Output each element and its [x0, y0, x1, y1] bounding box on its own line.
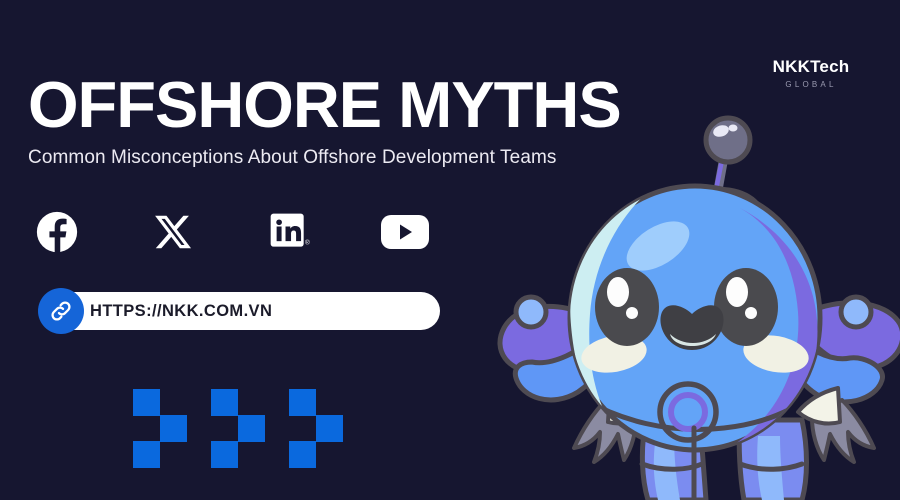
chevron-square — [133, 389, 160, 416]
brand-logo: NKKTech GLOBAL — [746, 58, 876, 89]
brand-tagline: GLOBAL — [746, 81, 876, 89]
chevron-square — [160, 415, 187, 442]
chevron-motif — [211, 389, 265, 467]
chevron-square — [238, 415, 265, 442]
link-chain-icon — [38, 288, 84, 334]
chevron-square — [289, 441, 316, 468]
facebook-icon — [34, 209, 80, 255]
social-link-youtube[interactable] — [381, 208, 429, 256]
social-links: ® — [33, 208, 429, 256]
chevron-square — [133, 441, 160, 468]
social-link-x[interactable] — [149, 208, 197, 256]
x-twitter-icon — [153, 212, 193, 252]
chevron-decoration — [133, 389, 343, 467]
linkedin-icon: ® — [267, 210, 311, 254]
social-link-linkedin[interactable]: ® — [265, 208, 313, 256]
poster-canvas: NKKTech GLOBAL OFFSHORE MYTHS Common Mis… — [0, 0, 900, 500]
social-link-facebook[interactable] — [33, 208, 81, 256]
chevron-square — [316, 415, 343, 442]
svg-text:®: ® — [305, 238, 310, 246]
website-url-text: HTTPS://NKK.COM.VN — [90, 302, 272, 321]
chevron-square — [289, 389, 316, 416]
chevron-motif — [133, 389, 187, 467]
chevron-square — [211, 389, 238, 416]
chevron-square — [211, 441, 238, 468]
brand-name: NKKTech — [746, 58, 876, 75]
website-url-bar[interactable]: HTTPS://NKK.COM.VN — [40, 292, 440, 330]
robot-mascot — [490, 100, 900, 500]
youtube-icon — [380, 214, 430, 250]
chevron-motif — [289, 389, 343, 467]
